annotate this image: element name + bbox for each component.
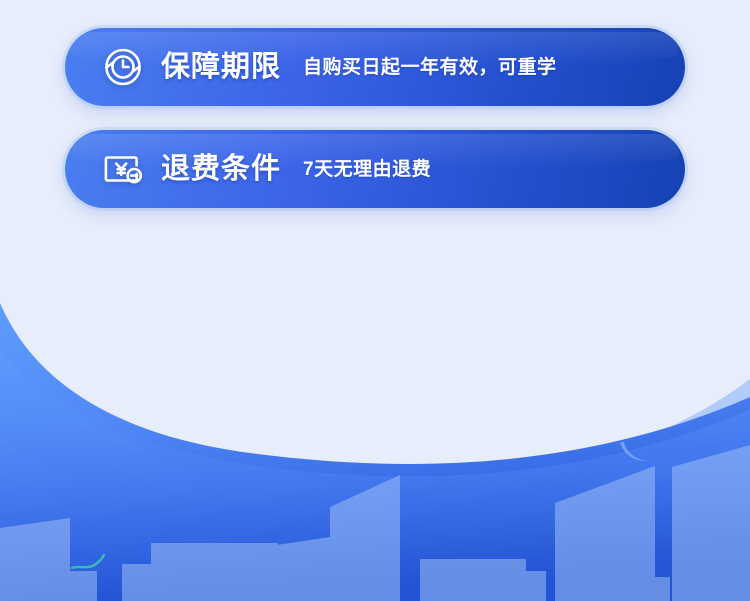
banner-title: 保障期限 [161, 53, 281, 82]
building-1 [270, 537, 330, 601]
banner-guarantee-period[interactable]: 保障期限 自购买日起一年有效，可重学 [65, 28, 685, 106]
city-skyline-wave-illustration [0, 271, 750, 601]
building-7 [212, 589, 265, 601]
clock-refresh-icon [101, 45, 145, 89]
building-10 [672, 445, 750, 601]
refund-yuan-icon [101, 147, 145, 191]
building-12 [618, 577, 670, 601]
banner-description: 自购买日起一年有效，可重学 [303, 58, 557, 77]
banner-description: 7天无理由退费 [303, 160, 431, 179]
building-5 [122, 564, 178, 601]
guarantee-banner-list: 保障期限 自购买日起一年有效，可重学 退费条件 7天无理由退费 [0, 0, 750, 232]
building-6 [35, 571, 97, 601]
banner-refund-policy[interactable]: 退费条件 7天无理由退费 [65, 130, 685, 208]
banner-title: 退费条件 [161, 155, 281, 184]
promo-page: 保障期限 自购买日起一年有效，可重学 退费条件 7天无理由退费 [0, 0, 750, 601]
building-11 [420, 559, 526, 601]
illustration-canvas [0, 271, 750, 601]
